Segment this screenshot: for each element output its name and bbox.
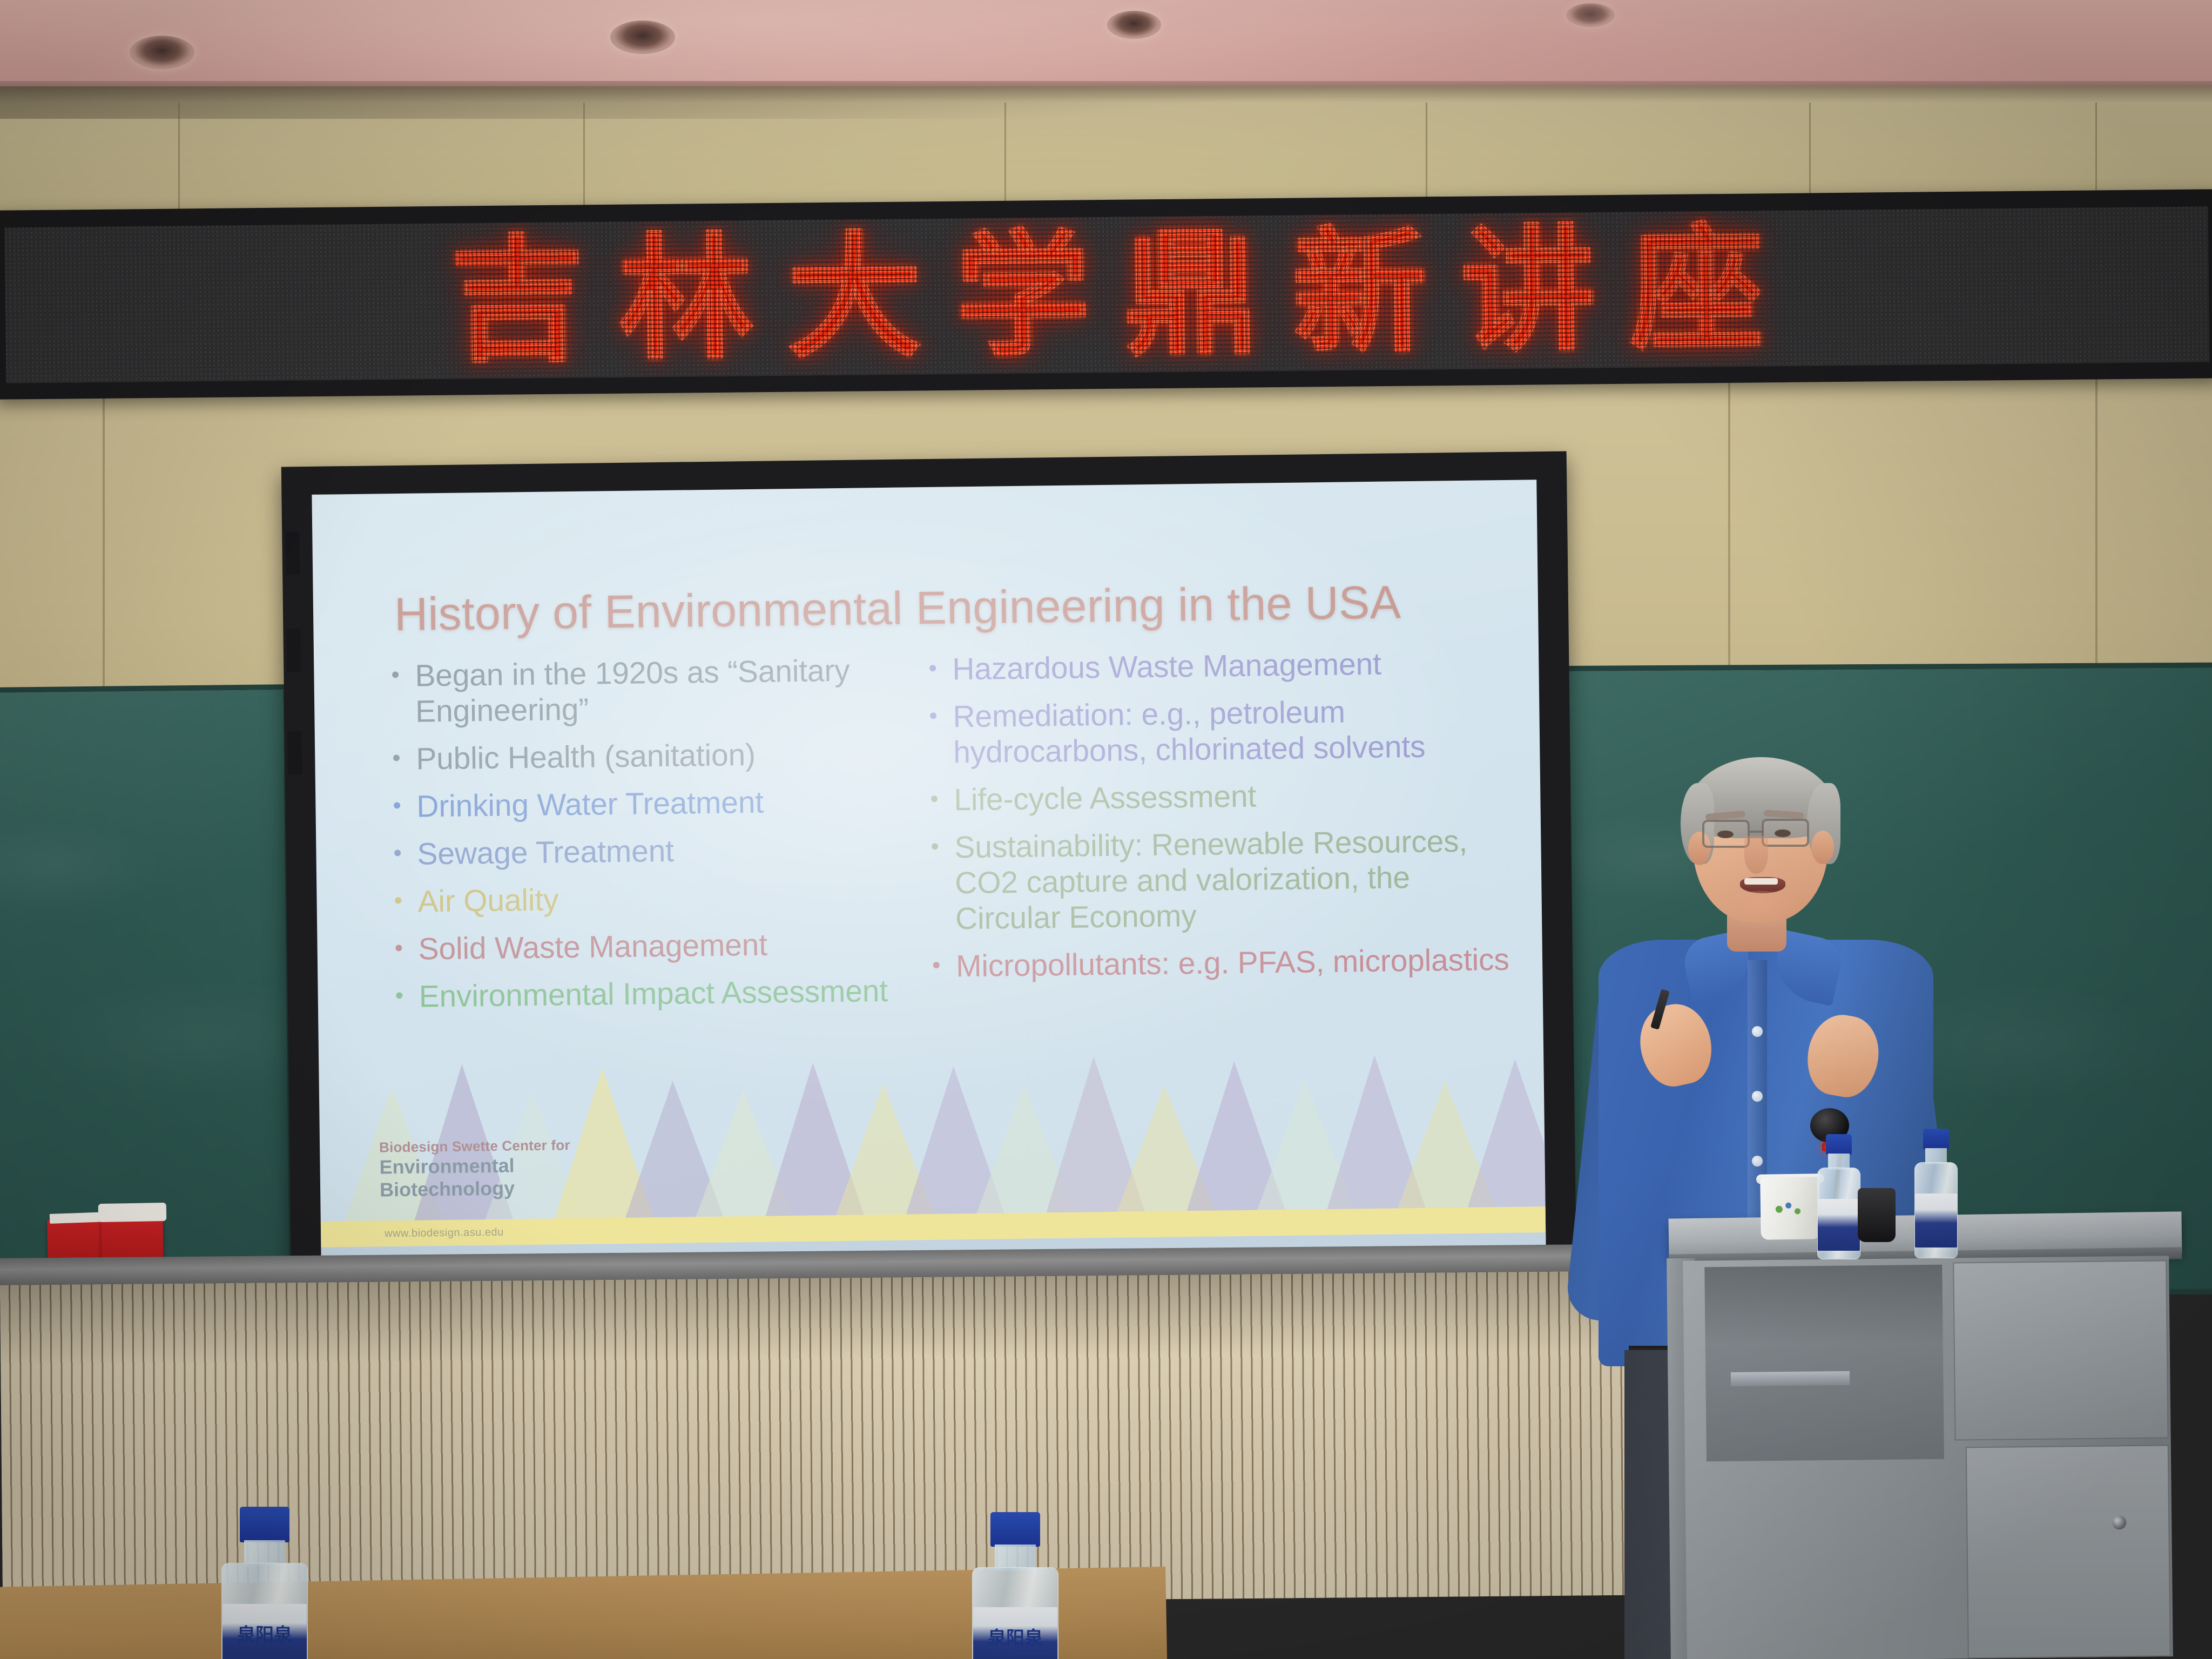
slide-bullet-text: Began in the 1920s as “Sanitary Engineer… bbox=[415, 653, 850, 729]
bottle-label: 泉阳泉 bbox=[973, 1607, 1057, 1659]
slide-bullet-text: Solid Waste Management bbox=[418, 928, 767, 967]
slide-bullet: Remediation: e.g., petroleum hydrocarbon… bbox=[925, 692, 1514, 771]
podium-shelf-cavity bbox=[1704, 1265, 1944, 1462]
upper-wall-top-shadow bbox=[0, 86, 2212, 103]
speaker-shirt-button bbox=[1752, 1026, 1763, 1037]
bottle-label bbox=[1915, 1193, 1957, 1247]
slide-bullet-text: Drinking Water Treatment bbox=[416, 785, 764, 824]
slide-bullet: Hazardous Waste Management bbox=[924, 645, 1513, 687]
speaker-teeth bbox=[1744, 878, 1778, 885]
water-bottle-front-left: 泉阳泉 bbox=[216, 1507, 313, 1659]
slide-bullet-text: Air Quality bbox=[417, 882, 558, 919]
speaker-ear-right bbox=[1811, 831, 1834, 864]
slide-column-left: Began in the 1920s as “Sanitary Engineer… bbox=[387, 652, 931, 1027]
slide-bullet-text: Hazardous Waste Management bbox=[952, 647, 1381, 687]
speaker-glasses-bridge bbox=[1750, 831, 1764, 833]
slide-bullet: Air Quality bbox=[389, 878, 930, 920]
slide-bullet: Sustainability: Renewable Resources, CO2… bbox=[926, 823, 1516, 937]
slide-bullet-text: Remediation: e.g., petroleum hydrocarbon… bbox=[953, 695, 1426, 770]
speaker-chin-highlight bbox=[1717, 891, 1804, 929]
chalk-box-lid bbox=[98, 1203, 167, 1222]
led-banner-text: 吉林大学鼎新讲座 bbox=[5, 207, 2210, 383]
speaker-eye-left bbox=[1717, 831, 1734, 838]
water-bottle-podium-left bbox=[1815, 1134, 1863, 1258]
led-banner: 吉林大学鼎新讲座 bbox=[0, 189, 2212, 400]
bottle-neck bbox=[244, 1540, 285, 1566]
bottle-label: 泉阳泉 bbox=[222, 1604, 307, 1659]
projection-screen: History of Environmental Engineering in … bbox=[281, 451, 1577, 1293]
slide-footer-logo: Biodesign Swette Center for Environmenta… bbox=[379, 1135, 725, 1202]
ceiling-light-wash bbox=[0, 0, 2212, 86]
slide-title: History of Environmental Engineering in … bbox=[394, 575, 1475, 642]
slide-bullet-text: Public Health (sanitation) bbox=[416, 738, 756, 777]
bottle-label bbox=[1818, 1199, 1860, 1251]
ceiling-downlight-icon bbox=[130, 36, 194, 69]
ceiling-downlight-icon bbox=[1566, 3, 1615, 27]
slide-bullet-text: Sewage Treatment bbox=[417, 834, 674, 872]
water-bottle-front-right: 泉阳泉 bbox=[967, 1512, 1064, 1659]
slide-bullet: Solid Waste Management bbox=[390, 925, 930, 967]
podium-drawer-rail bbox=[1731, 1371, 1850, 1386]
lecture-hall-scene: 吉林大学鼎新讲座 bbox=[0, 0, 2212, 1659]
podium-microphone-base bbox=[1858, 1188, 1896, 1242]
speaker-shirt-button bbox=[1752, 1091, 1763, 1102]
bottle-cap bbox=[240, 1507, 289, 1542]
slide-bullet: Micropollutants: e.g. PFAS, microplastic… bbox=[928, 942, 1517, 984]
bottle-brand-text: 泉阳泉 bbox=[222, 1620, 307, 1647]
screen-mount-bracket bbox=[288, 731, 302, 774]
ceiling-downlight-icon bbox=[610, 21, 675, 54]
slide-bullet: Drinking Water Treatment bbox=[388, 783, 929, 825]
bottle-brand-text: 泉阳泉 bbox=[973, 1623, 1057, 1650]
slide-footer-url: www.biodesign.asu.edu bbox=[385, 1226, 504, 1240]
led-banner-panel: 吉林大学鼎新讲座 bbox=[5, 206, 2210, 383]
podium-lower-door bbox=[1966, 1445, 2171, 1658]
slide-bullet-text: Micropollutants: e.g. PFAS, microplastic… bbox=[956, 942, 1509, 984]
slide-bullet: Began in the 1920s as “Sanitary Engineer… bbox=[387, 652, 928, 730]
slide-bullet: Environmental Impact Assessment bbox=[390, 973, 931, 1015]
slide-bullet-text: Life-cycle Assessment bbox=[954, 779, 1256, 818]
chalkboard-texture bbox=[0, 690, 289, 1271]
logo-org-line2: Biotechnology bbox=[380, 1175, 725, 1202]
presentation-slide: History of Environmental Engineering in … bbox=[312, 480, 1546, 1262]
bottle-cap bbox=[1826, 1134, 1852, 1155]
podium-front-panel bbox=[1953, 1260, 2168, 1440]
slide-bullet: Public Health (sanitation) bbox=[388, 735, 928, 777]
bottle-cap bbox=[1923, 1129, 1949, 1149]
screen-mount-bracket bbox=[286, 629, 301, 672]
ceiling-downlight-icon bbox=[1107, 11, 1161, 39]
paper-cup-pattern bbox=[1772, 1200, 1806, 1219]
screen-mount-bracket bbox=[285, 531, 300, 575]
slide-bullet: Life-cycle Assessment bbox=[926, 775, 1515, 818]
speaker-shirt-button bbox=[1752, 1156, 1763, 1166]
slide-column-right: Hazardous Waste Management Remediation: … bbox=[924, 645, 1517, 996]
slide-bullet: Sewage Treatment bbox=[389, 830, 929, 872]
podium-lock-icon bbox=[2112, 1515, 2126, 1529]
bottle-neck bbox=[995, 1545, 1036, 1570]
water-bottle-podium-right bbox=[1912, 1129, 1960, 1258]
diamond-shape bbox=[1464, 1058, 1545, 1214]
chalkboard-left bbox=[0, 684, 295, 1276]
slide-bullet-text: Environmental Impact Assessment bbox=[419, 974, 888, 1014]
bottle-cap bbox=[990, 1512, 1040, 1547]
slide-bullet-text: Sustainability: Renewable Resources, CO2… bbox=[954, 824, 1467, 936]
speaker-eye-right bbox=[1775, 829, 1791, 837]
slide-body: Began in the 1920s as “Sanitary Engineer… bbox=[314, 644, 1543, 1081]
speaker-nose bbox=[1744, 836, 1768, 874]
podium-body bbox=[1683, 1256, 2173, 1659]
